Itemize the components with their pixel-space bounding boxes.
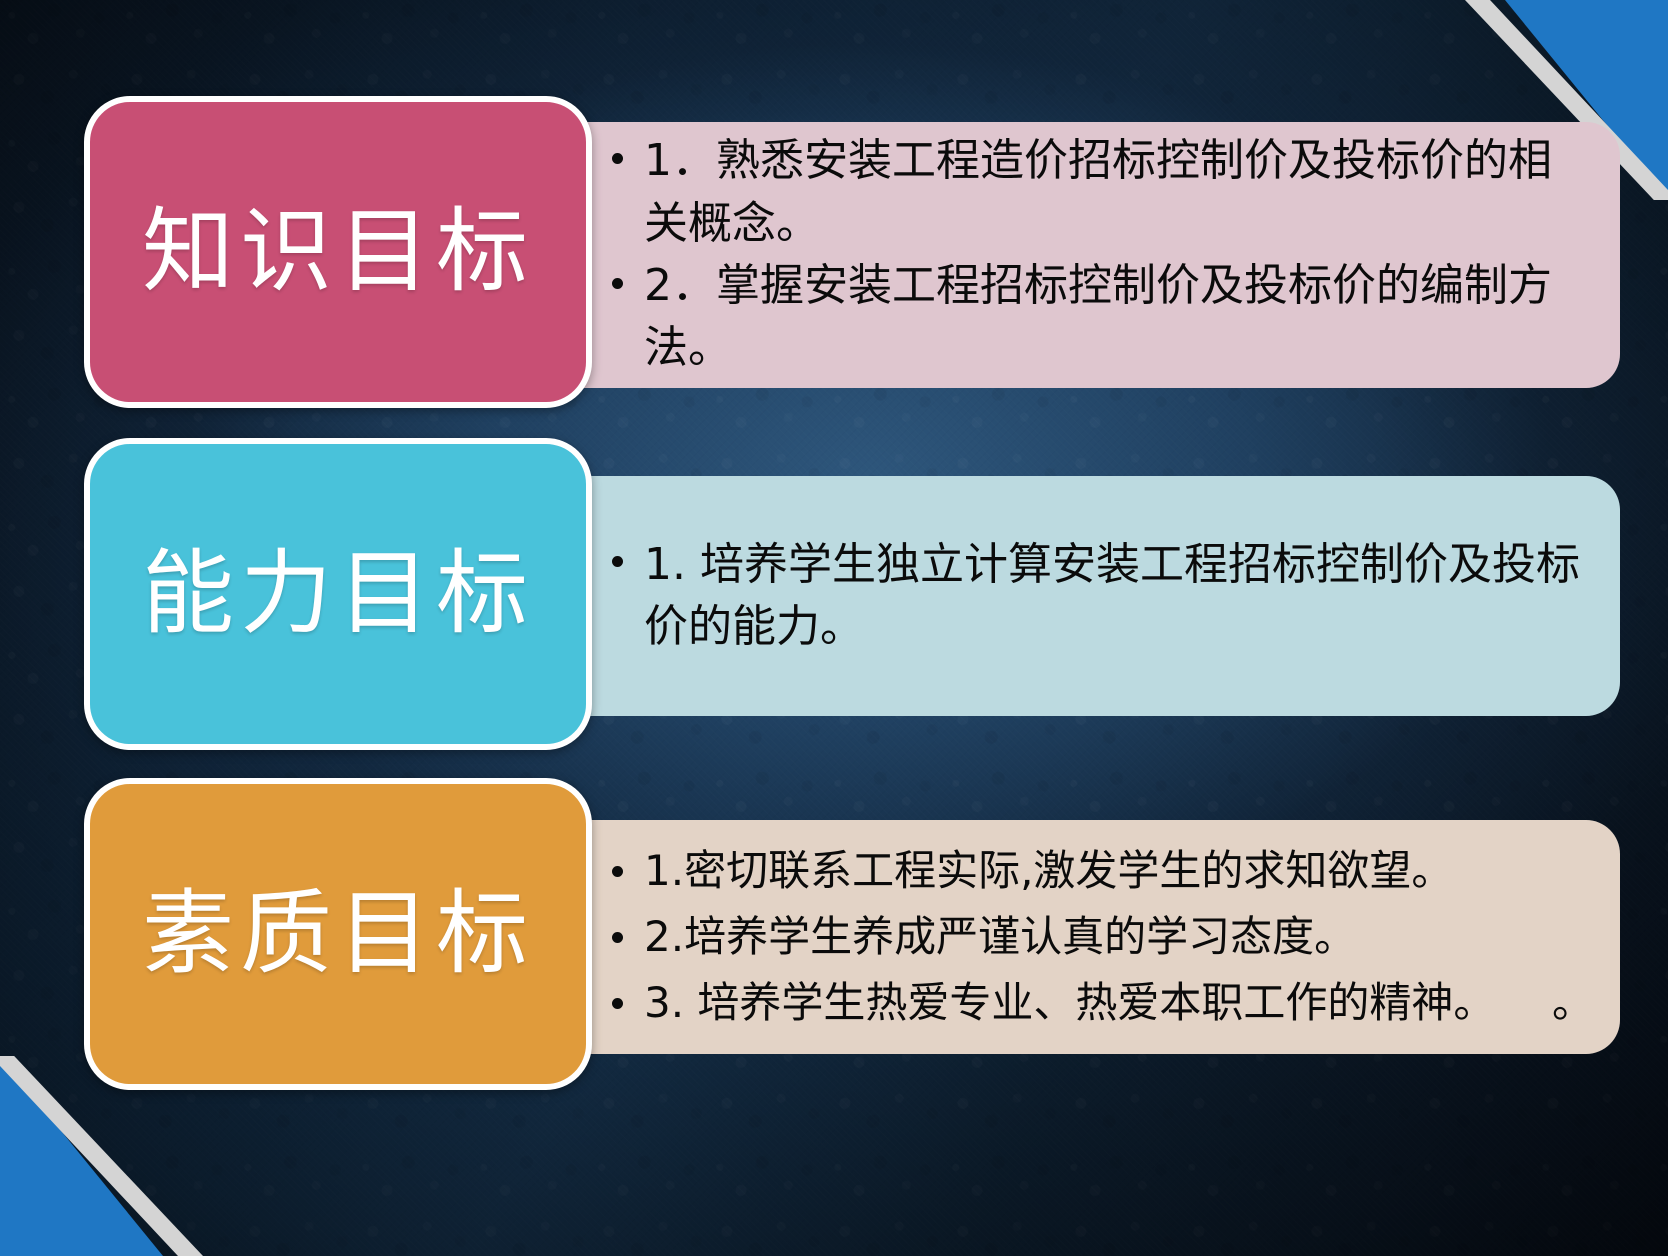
bullet-dot-icon <box>612 153 638 164</box>
content-panel-ability: 1. 培养学生独立计算安装工程招标控制价及投标价的能力。 <box>560 476 1620 716</box>
list-item: 2．掌握安装工程招标控制价及投标价的编制方法。 <box>612 255 1594 380</box>
label-text-knowledge: 知识目标 <box>142 206 534 298</box>
objective-row-ability: 能力目标 1. 培养学生独立计算安装工程招标控制价及投标价的能力。 <box>0 438 1668 758</box>
bullet-dot-icon <box>612 278 638 289</box>
objective-row-knowledge: 知识目标 1．熟悉安装工程造价招标控制价及投标价的相关概念。 2．掌握安装工程招… <box>0 96 1668 416</box>
list-item: 3. 培养学生热爱专业、热爱本职工作的精神。 。 <box>612 976 1594 1030</box>
label-text-quality: 素质目标 <box>142 888 534 980</box>
bullet-dot-icon <box>612 556 638 567</box>
content-panel-quality: 1.密切联系工程实际,激发学生的求知欲望。 2.培养学生养成严谨认真的学习态度。… <box>560 820 1620 1054</box>
list-item-text: 2．掌握安装工程招标控制价及投标价的编制方法。 <box>644 255 1594 380</box>
trailing-punctuation: 。 <box>1552 976 1594 1030</box>
objective-row-quality: 素质目标 1.密切联系工程实际,激发学生的求知欲望。 2.培养学生养成严谨认真的… <box>0 778 1668 1098</box>
list-item-text: 1. 培养学生独立计算安装工程招标控制价及投标价的能力。 <box>644 534 1594 659</box>
list-item: 1.密切联系工程实际,激发学生的求知欲望。 <box>612 844 1594 898</box>
bullet-dot-icon <box>612 998 638 1009</box>
label-box-knowledge[interactable]: 知识目标 <box>84 96 592 408</box>
bullet-dot-icon <box>612 866 638 877</box>
label-box-ability[interactable]: 能力目标 <box>84 438 592 750</box>
label-box-quality[interactable]: 素质目标 <box>84 778 592 1090</box>
list-item: 2.培养学生养成严谨认真的学习态度。 <box>612 910 1594 964</box>
label-text-ability: 能力目标 <box>142 548 534 640</box>
list-item: 1．熟悉安装工程造价招标控制价及投标价的相关概念。 <box>612 130 1594 255</box>
list-item-text: 1.密切联系工程实际,激发学生的求知欲望。 <box>644 844 1594 898</box>
list-item-text: 3. 培养学生热爱专业、热爱本职工作的精神。 <box>644 976 1552 1030</box>
content-panel-knowledge: 1．熟悉安装工程造价招标控制价及投标价的相关概念。 2．掌握安装工程招标控制价及… <box>560 122 1620 388</box>
slide-canvas: 知识目标 1．熟悉安装工程造价招标控制价及投标价的相关概念。 2．掌握安装工程招… <box>0 0 1668 1256</box>
list-item: 1. 培养学生独立计算安装工程招标控制价及投标价的能力。 <box>612 534 1594 659</box>
list-item-text: 2.培养学生养成严谨认真的学习态度。 <box>644 910 1594 964</box>
list-item-text: 1．熟悉安装工程造价招标控制价及投标价的相关概念。 <box>644 130 1594 255</box>
bullet-dot-icon <box>612 932 638 943</box>
